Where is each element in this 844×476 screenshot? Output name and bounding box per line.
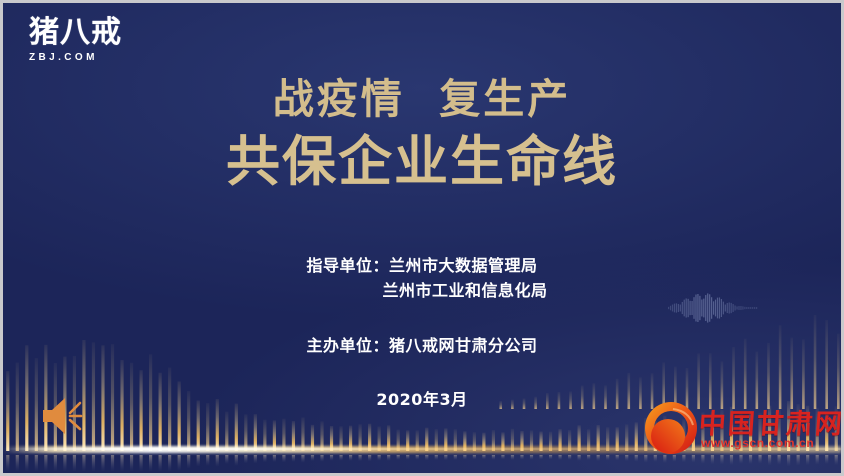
- zbj-logo[interactable]: 猪八戒 ZBJ.COM: [29, 17, 149, 63]
- title-line-1: 战疫情 复生产: [3, 77, 841, 123]
- gansu-swoosh-icon: [643, 400, 699, 456]
- title-line-2: 共保企业生命线: [3, 133, 841, 191]
- presentation-slide: 猪八戒 ZBJ.COM 战疫情 复生产 共保企业生命线 指导单位：兰州市大数据管…: [0, 0, 844, 476]
- subtitle-spacer: [3, 303, 841, 333]
- title-block: 战疫情 复生产 共保企业生命线: [3, 77, 841, 191]
- guiding-unit-line-1: 指导单位：兰州市大数据管理局: [3, 253, 841, 278]
- zbj-logo-mark: 猪八戒: [29, 17, 149, 49]
- host-unit-line: 主办单位：猪八戒网甘肃分公司: [3, 333, 841, 358]
- subtitle-block: 指导单位：兰州市大数据管理局 兰州市工业和信息化局 主办单位：猪八戒网甘肃分公司…: [3, 253, 841, 410]
- gansu-net-url: www.gscn.com.cn: [701, 436, 814, 450]
- guiding-unit-line-2: 兰州市工业和信息化局: [3, 278, 841, 303]
- zbj-logo-domain: ZBJ.COM: [29, 52, 149, 63]
- gansu-net-logo[interactable]: 中国甘肃网 www.gscn.com.cn: [643, 396, 843, 468]
